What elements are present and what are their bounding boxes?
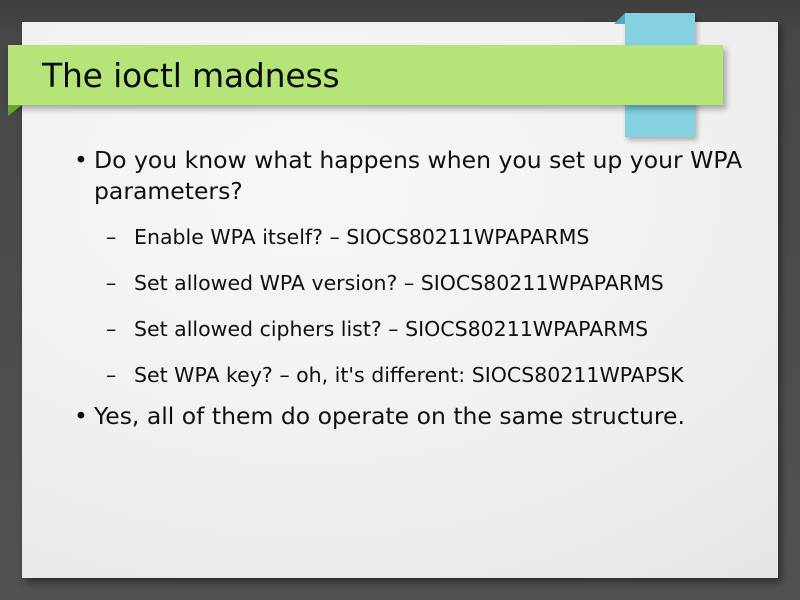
- title-banner-fold-icon: [8, 105, 22, 116]
- sub-bullet-marker-dash: –: [106, 316, 116, 343]
- bullet-marker-dot: •: [74, 401, 88, 432]
- sub-bullet-item: – Enable WPA itself? – SIOCS80211WPAPARM…: [52, 224, 762, 251]
- bullet-marker-dot: •: [74, 145, 88, 176]
- bullet-item: • Yes, all of them do operate on the sam…: [52, 401, 762, 432]
- sub-bullet-text: Enable WPA itself? – SIOCS80211WPAPARMS: [134, 225, 589, 249]
- decorative-blue-bar-fold-icon: [614, 13, 625, 24]
- bullet-text: Do you know what happens when you set up…: [94, 146, 742, 205]
- sub-bullet-text: Set allowed WPA version? – SIOCS80211WPA…: [134, 271, 664, 295]
- sub-bullet-marker-dash: –: [106, 270, 116, 297]
- sub-bullet-item: – Set allowed ciphers list? – SIOCS80211…: [52, 316, 762, 343]
- slide-body: • Do you know what happens when you set …: [52, 145, 762, 434]
- slide-title: The ioctl madness: [42, 59, 339, 92]
- slide-viewport: • Do you know what happens when you set …: [0, 0, 800, 600]
- sub-bullet-item: – Set WPA key? – oh, it's different: SIO…: [52, 362, 762, 389]
- sub-bullet-text: Set allowed ciphers list? – SIOCS80211WP…: [134, 317, 648, 341]
- sub-bullet-text: Set WPA key? – oh, it's different: SIOCS…: [134, 363, 684, 387]
- bullet-item: • Do you know what happens when you set …: [52, 145, 762, 207]
- sub-bullet-marker-dash: –: [106, 224, 116, 251]
- title-banner: The ioctl madness: [8, 45, 723, 105]
- bullet-text: Yes, all of them do operate on the same …: [94, 402, 685, 430]
- sub-bullet-marker-dash: –: [106, 362, 116, 389]
- sub-bullet-item: – Set allowed WPA version? – SIOCS80211W…: [52, 270, 762, 297]
